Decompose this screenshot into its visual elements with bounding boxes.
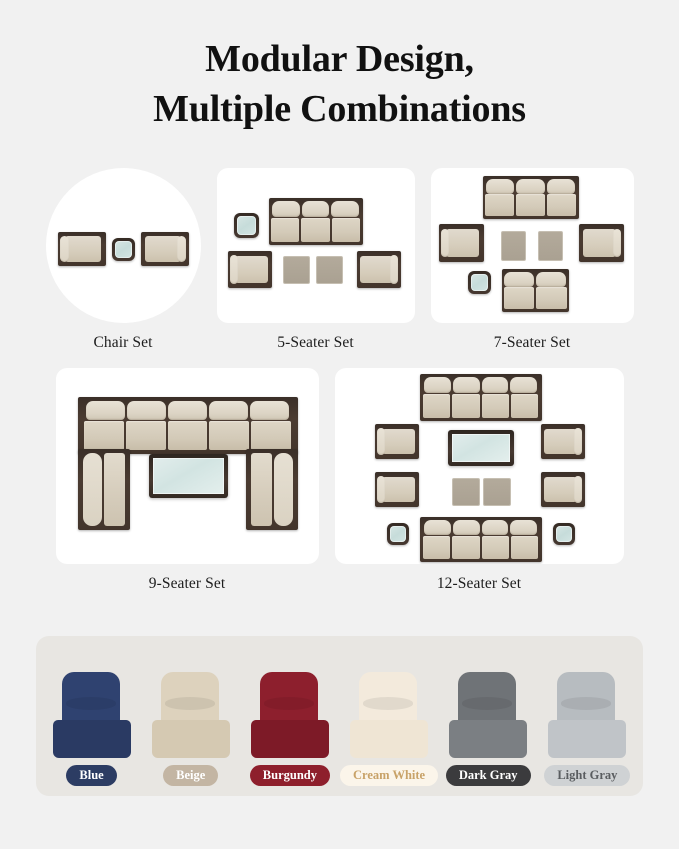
cushion-seat	[449, 720, 527, 758]
cushion-back	[359, 672, 417, 727]
cushion-seat	[53, 720, 131, 758]
color-label: Burgundy	[250, 765, 330, 786]
set-diagram-9-seater-set	[56, 368, 319, 564]
armchair-right-icon	[579, 224, 624, 262]
cushion-icon	[449, 672, 527, 758]
color-swatch-cream-white[interactable]: Cream White	[346, 672, 432, 796]
set-label: 7-Seater Set	[494, 334, 571, 352]
set-7-seater-set[interactable]: 7-Seater Set	[431, 168, 634, 352]
color-swatch-blue[interactable]: Blue	[49, 672, 135, 796]
side-table-icon	[387, 523, 409, 545]
cushion-back	[557, 672, 615, 727]
cushion-icon	[53, 672, 131, 758]
ottoman-icon	[316, 256, 343, 284]
ottoman-icon	[483, 478, 511, 506]
side-table-icon	[112, 238, 135, 261]
cushion-back	[458, 672, 516, 727]
color-label: Light Gray	[544, 765, 630, 786]
set-9-seater-set[interactable]: 9-Seater Set	[56, 368, 319, 593]
armchair-left-icon	[58, 232, 106, 266]
set-row-2: 9-Seater Set	[0, 368, 679, 593]
cushion-seat	[152, 720, 230, 758]
armchair-left-icon	[439, 224, 484, 262]
loveseat-2seat-icon	[502, 269, 569, 312]
color-swatch-dark-gray[interactable]: Dark Gray	[445, 672, 531, 796]
cushion-seat	[548, 720, 626, 758]
set-label: 5-Seater Set	[277, 334, 354, 352]
sofa-4seat-icon	[420, 374, 542, 421]
color-swatch-burgundy[interactable]: Burgundy	[247, 672, 333, 796]
set-label: 9-Seater Set	[149, 575, 226, 593]
set-configurations: Chair Set	[0, 168, 679, 593]
color-swatch-row: Blue Beige Burgundy	[36, 636, 643, 796]
set-label: Chair Set	[93, 334, 152, 352]
color-options-panel: Blue Beige Burgundy	[36, 636, 643, 796]
armchair-left-icon	[228, 251, 272, 288]
sofa-3seat-icon	[483, 176, 579, 219]
color-label: Blue	[66, 765, 116, 786]
cushion-icon	[251, 672, 329, 758]
sofa-3seat-icon	[269, 198, 363, 245]
cushion-seat	[251, 720, 329, 758]
set-chair-set[interactable]: Chair Set	[46, 168, 201, 352]
cushion-back	[161, 672, 219, 727]
side-table-icon	[234, 213, 259, 238]
cushion-icon	[350, 672, 428, 758]
infographic-page: Modular Design, Multiple Combinations	[0, 0, 679, 849]
cushion-back	[62, 672, 120, 727]
cushion-icon	[152, 672, 230, 758]
armchair-right-icon	[541, 472, 585, 507]
set-5-seater-set[interactable]: 5-Seater Set	[217, 168, 415, 352]
color-swatch-beige[interactable]: Beige	[148, 672, 234, 796]
sofa-4seat-icon	[420, 517, 542, 562]
set-diagram-7-seater-set	[431, 168, 634, 323]
armchair-right-icon	[357, 251, 401, 288]
set-diagram-12-seater-set	[335, 368, 624, 564]
set-label: 12-Seater Set	[437, 575, 521, 593]
cushion-back	[260, 672, 318, 727]
ottoman-icon	[538, 231, 563, 261]
color-label: Dark Gray	[446, 765, 531, 786]
ottoman-icon	[452, 478, 480, 506]
color-label: Beige	[163, 765, 218, 786]
page-title: Modular Design, Multiple Combinations	[0, 34, 679, 134]
side-table-icon	[468, 271, 491, 294]
coffee-table-icon	[149, 454, 228, 498]
set-row-1: Chair Set	[0, 168, 679, 352]
set-diagram-chair-set	[46, 168, 201, 323]
side-table-icon	[553, 523, 575, 545]
cushion-seat	[350, 720, 428, 758]
armchair-right-icon	[141, 232, 189, 266]
title-line-2: Multiple Combinations	[0, 84, 679, 134]
color-label: Cream White	[340, 765, 438, 786]
ottoman-icon	[283, 256, 310, 284]
armchair-left-icon	[375, 424, 419, 459]
color-swatch-light-gray[interactable]: Light Gray	[544, 672, 630, 796]
coffee-table-icon	[448, 430, 514, 466]
armchair-right-icon	[541, 424, 585, 459]
title-line-1: Modular Design,	[205, 38, 474, 80]
set-12-seater-set[interactable]: 12-Seater Set	[335, 368, 624, 593]
cushion-icon	[548, 672, 626, 758]
set-diagram-5-seater-set	[217, 168, 415, 323]
ottoman-icon	[501, 231, 526, 261]
armchair-left-icon	[375, 472, 419, 507]
